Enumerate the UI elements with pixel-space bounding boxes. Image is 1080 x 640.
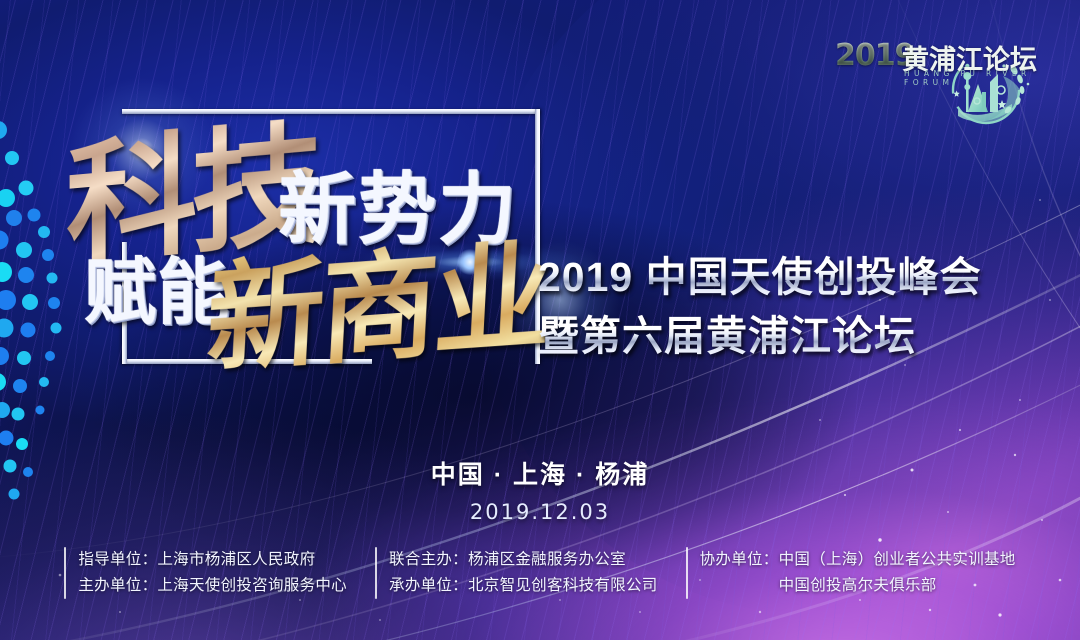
venue-date: 2019.12.03 [0, 500, 1080, 524]
credit-column-3: 协办单位：中国（上海）创业者公共实训基地 中国创投高尔夫俱乐部 [672, 547, 1030, 599]
credit-column-2: 联合主办：杨浦区金融服务办公室 承办单位：北京智见创客科技有限公司 [361, 547, 672, 599]
credit-line: 承办单位：北京智见创客科技有限公司 [389, 573, 658, 599]
main-title-line-2: 暨第六届黄浦江论坛 [538, 307, 1008, 366]
calligraphy-headline-block: 科技 新势力 赋能 新商业 [60, 95, 540, 385]
credit-line: 联合主办：杨浦区金融服务办公室 [389, 547, 658, 573]
event-poster: 科技 新势力 赋能 新商业 2019 中国天使创投峰会 暨第六届黄浦江论坛 中国… [0, 0, 1080, 640]
credit-line: 指导单位：上海市杨浦区人民政府 [78, 547, 347, 573]
venue-block: 中国 · 上海 · 杨浦 2019.12.03 [0, 455, 1080, 524]
credit-line: 主办单位：上海天使创投咨询服务中心 [78, 573, 347, 599]
forum-logo: 2019 黄浦江论坛 HUANG PU RIVER FORUM [830, 26, 1060, 131]
credit-divider-bar [64, 547, 66, 599]
venue-location: 中国 · 上海 · 杨浦 [0, 455, 1080, 491]
credit-divider-bar [686, 547, 688, 599]
logo-name-en: HUANG PU RIVER FORUM [904, 69, 1060, 87]
credit-line: 中国创投高尔夫俱乐部 [700, 573, 1016, 599]
credits-row: 指导单位：上海市杨浦区人民政府 主办单位：上海天使创投咨询服务中心 联合主办：杨… [0, 542, 1080, 604]
main-title-line-1: 2019 中国天使创投峰会 [538, 248, 1008, 307]
credit-divider-bar [375, 547, 377, 599]
main-title-block: 2019 中国天使创投峰会 暨第六届黄浦江论坛 [538, 248, 1008, 367]
credit-column-1: 指导单位：上海市杨浦区人民政府 主办单位：上海天使创投咨询服务中心 [50, 547, 361, 599]
calligraphy-xinshangye: 新商业 [203, 199, 553, 395]
credit-line: 协办单位：中国（上海）创业者公共实训基地 [700, 547, 1016, 573]
